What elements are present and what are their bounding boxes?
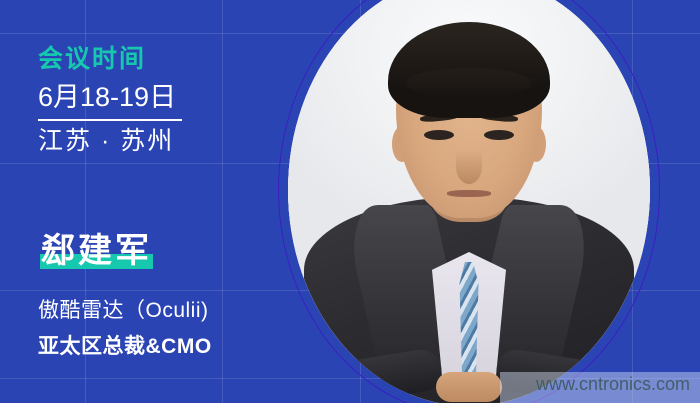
- speaker-info-block: 郄建军 傲酷雷达（Oculii) 亚太区总裁&CMO: [38, 232, 212, 363]
- divider-rule: [38, 119, 182, 121]
- event-date: 6月18-19日: [38, 82, 182, 113]
- right-eye-shape: [484, 130, 514, 140]
- speaker-photo: [288, 0, 650, 403]
- speaker-role: 亚太区总裁&CMO: [38, 330, 212, 364]
- hair-shape: [388, 22, 550, 118]
- watermark-url: www.cntronics.com: [536, 374, 690, 395]
- hands-shape: [436, 372, 502, 402]
- left-eye-shape: [424, 130, 454, 140]
- event-location: 江苏 · 苏州: [38, 126, 182, 156]
- speaker-organization: 傲酷雷达（Oculii): [38, 293, 212, 330]
- event-time-label: 会议时间: [38, 44, 182, 74]
- event-details-block: 会议时间 6月18-19日 江苏 · 苏州: [38, 44, 182, 156]
- speaker-portrait: [288, 0, 650, 403]
- mouth-shape: [447, 190, 491, 197]
- portrait-oval-mask: [288, 0, 650, 403]
- speaker-name-container: 郄建军: [38, 232, 155, 271]
- grid-line-vertical: [222, 0, 223, 403]
- event-speaker-poster: 会议时间 6月18-19日 江苏 · 苏州 郄建军 傲酷雷达（Oculii) 亚…: [0, 0, 700, 403]
- speaker-name: 郄建军: [41, 232, 152, 271]
- nose-shape: [456, 150, 482, 184]
